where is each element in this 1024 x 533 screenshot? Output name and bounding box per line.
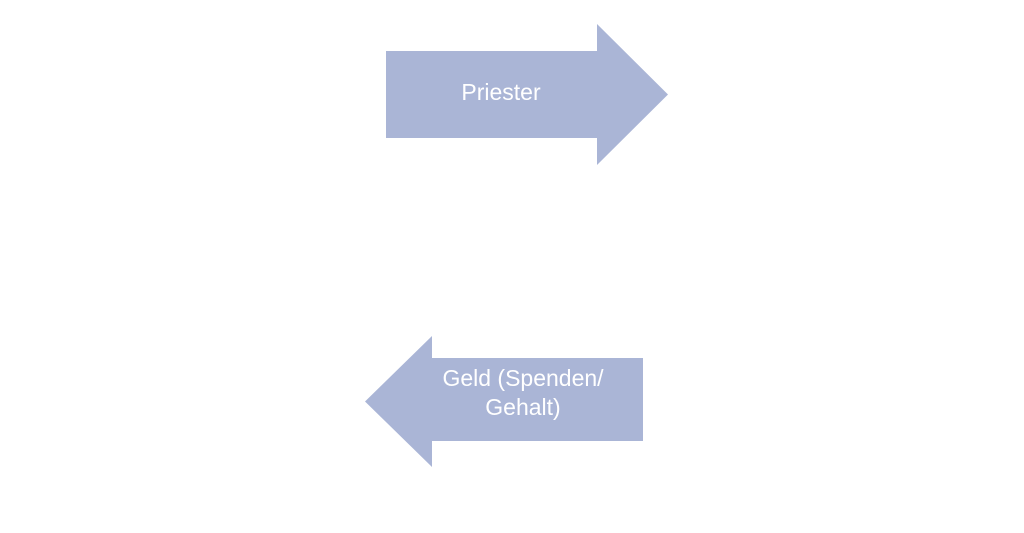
diagram-canvas: Afrikanische Diözese Österreichische Diö… [0,0,1024,533]
node-afrikanische-dioezese-label: Afrikanische Diözese [142,210,323,276]
node-oesterreichische-dioezese-label: Österreichische Diözese [680,210,903,276]
node-afrikanische-dioezese[interactable]: Afrikanische Diözese [74,73,392,412]
arrow-priester-label: Priester [386,78,616,107]
arrow-geld-label: Geld (Spenden/ Gehalt) [408,364,638,422]
node-oesterreichische-dioezese[interactable]: Österreichische Diözese [631,73,951,413]
